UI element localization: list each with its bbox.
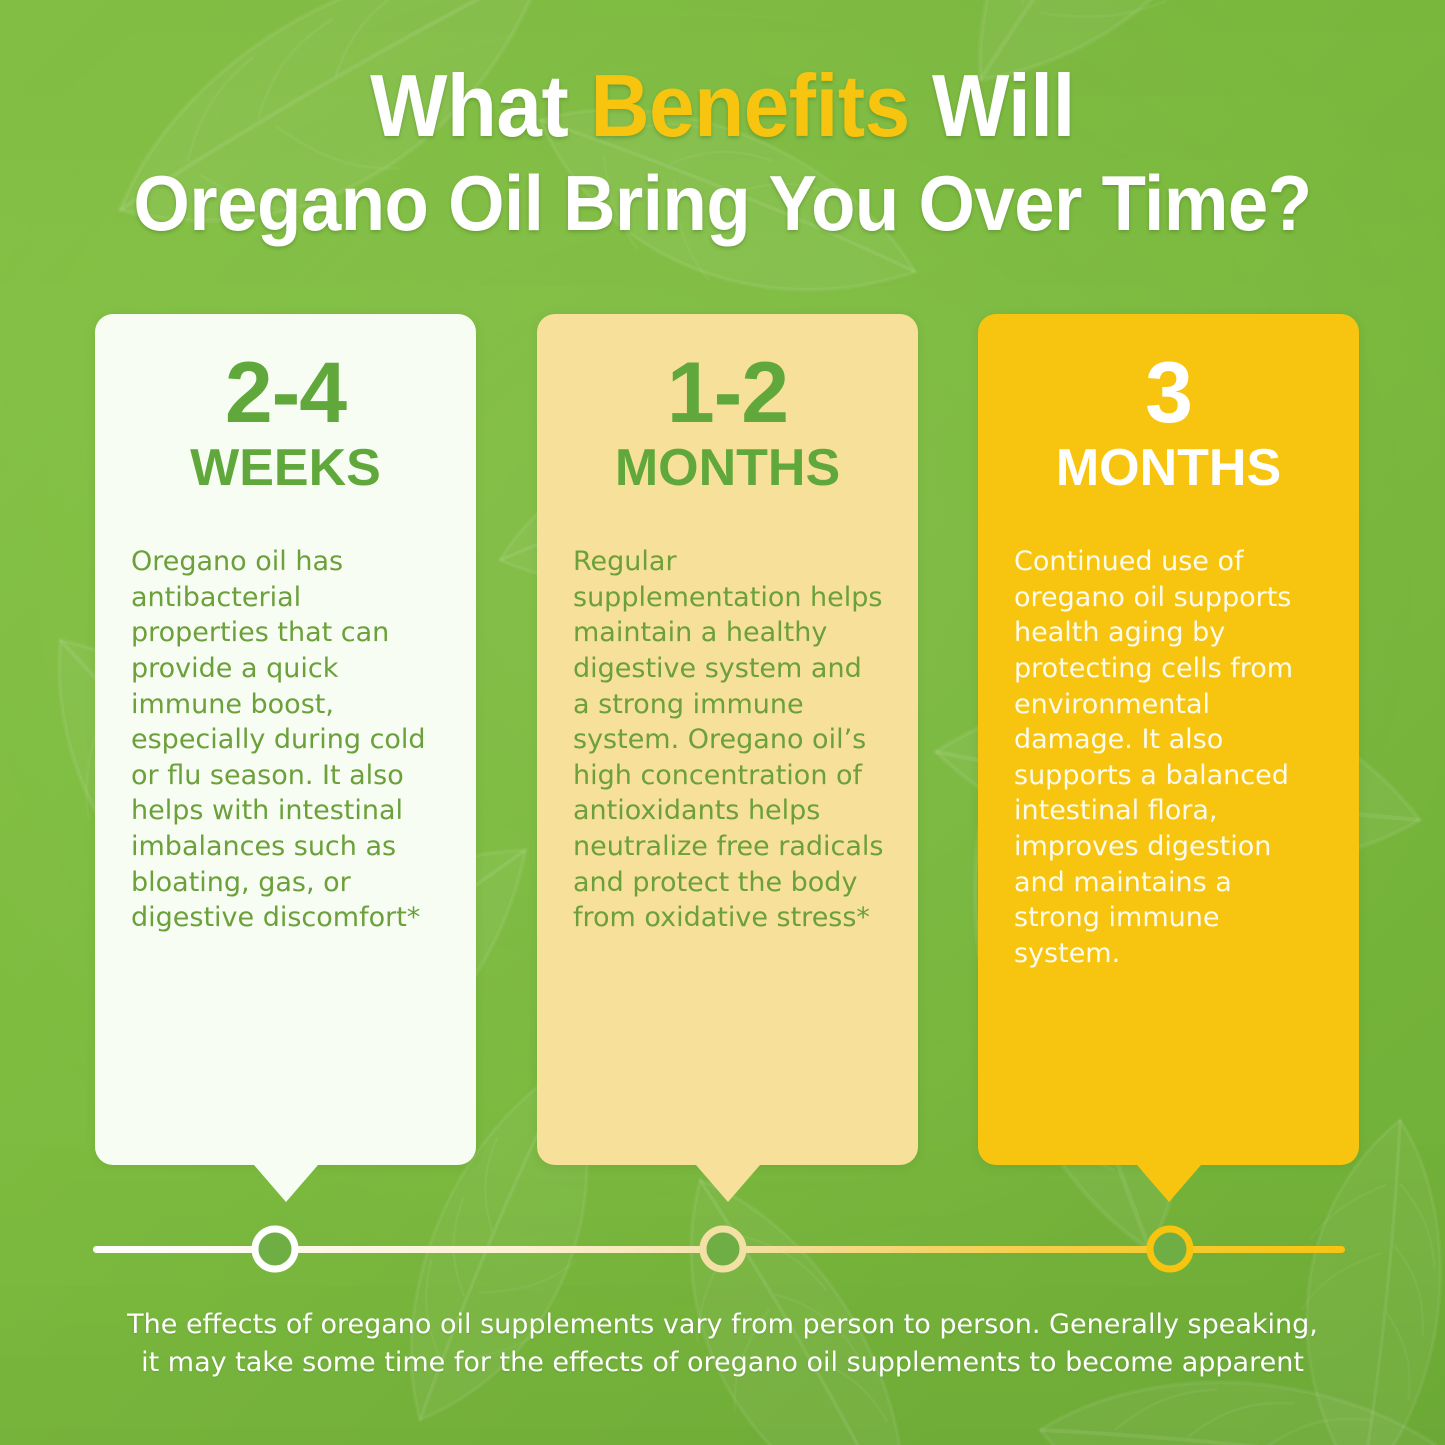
card-number: 2-4 bbox=[127, 350, 444, 436]
card-2-4-weeks: 2-4 WEEKS Oregano oil has antibacterial … bbox=[95, 314, 476, 1165]
card-unit: MONTHS bbox=[1010, 442, 1327, 494]
footer-line-2: it may take some time for the effects of… bbox=[0, 1344, 1445, 1382]
title-line1-part2: Will bbox=[910, 56, 1075, 155]
card-pointer-triangle bbox=[254, 1165, 318, 1202]
card-body-text: Regular supplementation helps maintain a… bbox=[569, 544, 886, 936]
page-title: What Benefits Will Oregano Oil Bring You… bbox=[0, 62, 1445, 242]
infographic-root: What Benefits Will Oregano Oil Bring You… bbox=[0, 0, 1445, 1445]
card-header: 3 MONTHS bbox=[1010, 314, 1327, 494]
timeline-marker-2[interactable] bbox=[703, 1229, 743, 1269]
title-accent-benefits: Benefits bbox=[591, 56, 910, 155]
card-1-2-months: 1-2 MONTHS Regular supplementation helps… bbox=[537, 314, 918, 1165]
timeline-marker-1[interactable] bbox=[255, 1229, 295, 1269]
footer-line-1: The effects of oregano oil supplements v… bbox=[0, 1306, 1445, 1344]
card-pointer-triangle bbox=[1137, 1165, 1201, 1202]
card-unit: WEEKS bbox=[127, 442, 444, 494]
title-line-2: Oregano Oil Bring You Over Time? bbox=[51, 164, 1395, 242]
card-header: 2-4 WEEKS bbox=[127, 314, 444, 494]
card-header: 1-2 MONTHS bbox=[569, 314, 886, 494]
title-line-1: What Benefits Will bbox=[51, 62, 1395, 150]
card-unit: MONTHS bbox=[569, 442, 886, 494]
footer-note: The effects of oregano oil supplements v… bbox=[0, 1306, 1445, 1383]
card-pointer-triangle bbox=[696, 1165, 760, 1202]
timeline-cards: 2-4 WEEKS Oregano oil has antibacterial … bbox=[0, 314, 1445, 1214]
card-3-months: 3 MONTHS Continued use of oregano oil su… bbox=[978, 314, 1359, 1165]
card-body-text: Continued use of oregano oil supports he… bbox=[1010, 544, 1327, 972]
card-body-text: Oregano oil has antibacterial properties… bbox=[127, 544, 444, 936]
timeline-marker-3[interactable] bbox=[1150, 1229, 1190, 1269]
card-number: 1-2 bbox=[569, 350, 886, 436]
timeline-track bbox=[0, 1218, 1445, 1282]
title-line1-part1: What bbox=[370, 56, 590, 155]
card-number: 3 bbox=[1010, 350, 1327, 436]
